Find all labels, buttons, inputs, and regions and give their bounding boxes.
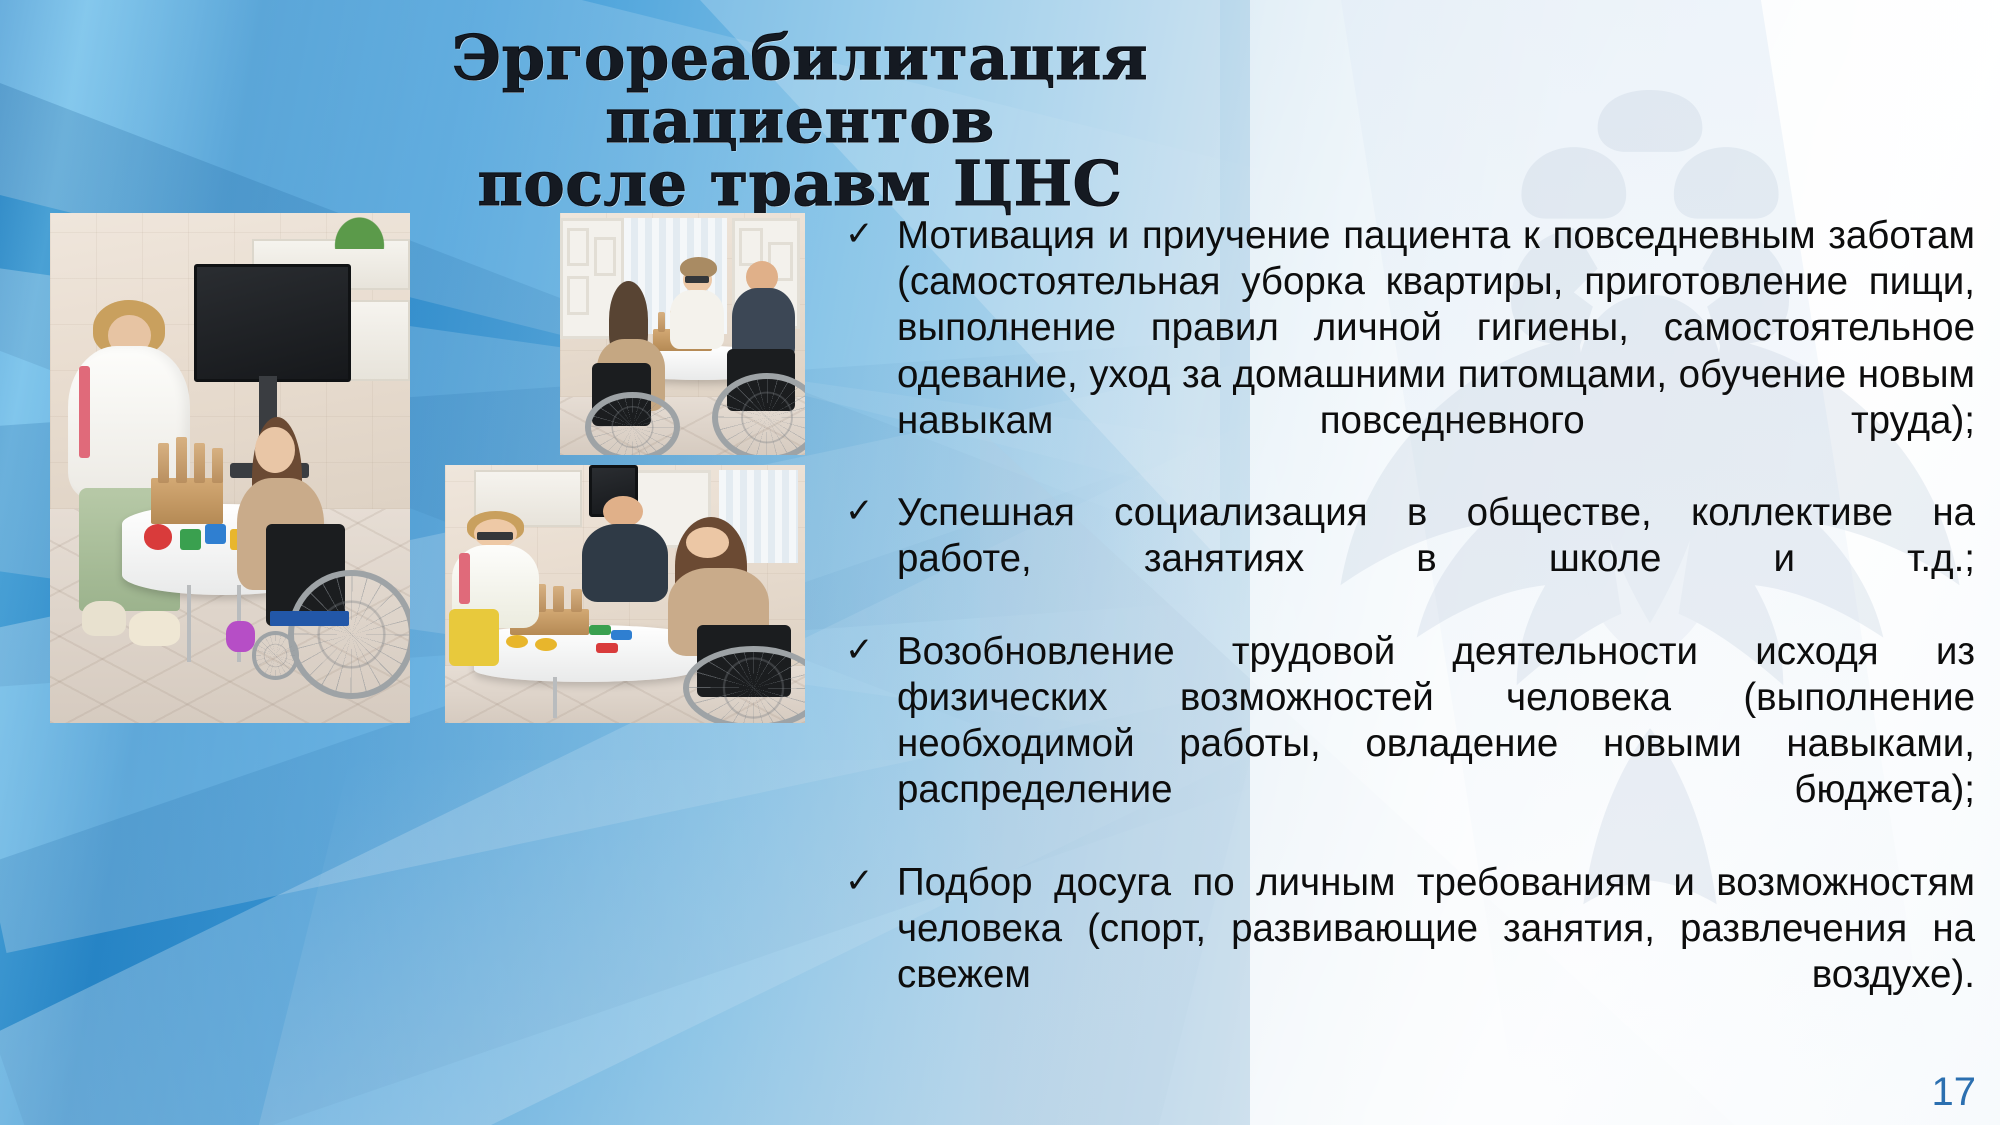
page-number: 17 bbox=[1932, 1070, 1977, 1115]
checkmark-icon: ✓ bbox=[845, 490, 897, 533]
photo-group-session-at-table bbox=[560, 213, 805, 455]
photo-occupational-therapy-session bbox=[445, 465, 805, 723]
bullet-item: ✓ Возобновление трудовой деятельности ис… bbox=[845, 629, 1975, 860]
bullet-list: ✓ Мотивация и приучение пациента к повсе… bbox=[845, 213, 1975, 1044]
slide-title-line-1: Эргореабилитация пациентов bbox=[300, 26, 1300, 152]
checkmark-icon: ✓ bbox=[845, 860, 897, 903]
slide-title-line-2: после травм ЦНС bbox=[300, 152, 1300, 215]
photo-therapist-and-patient-with-pegboard bbox=[50, 213, 410, 723]
bullet-item: ✓ Подбор досуга по личным требованиям и … bbox=[845, 860, 1975, 1045]
bullet-text: Возобновление трудовой деятельности исхо… bbox=[897, 629, 1975, 860]
bullet-item: ✓ Мотивация и приучение пациента к повсе… bbox=[845, 213, 1975, 490]
bullet-text: Успешная социализация в обществе, коллек… bbox=[897, 490, 1975, 629]
slide-canvas: Эргореабилитация пациентов после травм Ц… bbox=[0, 0, 2000, 1125]
bullet-text: Подбор досуга по личным требованиям и во… bbox=[897, 860, 1975, 1045]
checkmark-icon: ✓ bbox=[845, 629, 897, 672]
bullet-text: Мотивация и приучение пациента к повседн… bbox=[897, 213, 1975, 490]
bullet-item: ✓ Успешная социализация в обществе, колл… bbox=[845, 490, 1975, 629]
slide-title: Эргореабилитация пациентов после травм Ц… bbox=[300, 26, 1300, 216]
checkmark-icon: ✓ bbox=[845, 213, 897, 256]
